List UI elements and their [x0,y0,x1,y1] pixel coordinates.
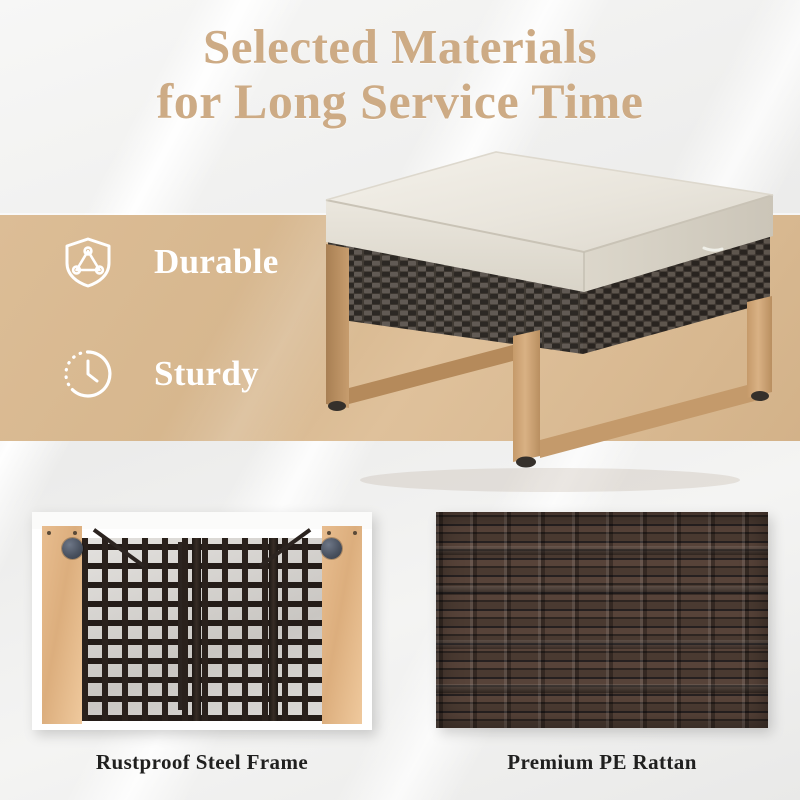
mesh-vertical-bar [192,538,201,721]
rattan-strand [436,586,768,595]
panel-left-top-strip [32,512,372,529]
infographic-canvas: Selected Materials for Long Service Time… [0,0,800,800]
feature-label-sturdy: Sturdy [154,354,259,394]
screw-icon [327,531,331,535]
screw-icon [73,531,77,535]
bolt-icon [321,538,342,559]
product-image-ottoman [300,140,790,510]
panel-premium-pe-rattan [436,512,768,728]
shield-icon [60,234,116,290]
steel-frame-mesh [82,538,322,721]
rattan-strand [436,684,768,693]
rattan-strand [436,546,768,555]
feature-label-durable: Durable [154,242,279,282]
page-title: Selected Materials for Long Service Time [0,22,800,127]
screw-icon [353,531,357,535]
caption-rustproof-steel-frame: Rustproof Steel Frame [32,750,372,775]
panel-rustproof-steel-frame [32,512,372,730]
pe-rattan-weave-texture [436,512,768,728]
rattan-strand [436,640,768,649]
bolt-icon [62,538,83,559]
caption-premium-pe-rattan: Premium PE Rattan [436,750,768,775]
title-line-2: for Long Service Time [0,76,800,127]
frame-post-right [322,526,362,724]
feature-durable: Durable [60,234,279,290]
screw-icon [47,531,51,535]
feature-sturdy: Sturdy [60,346,259,402]
clock-icon [60,346,116,402]
frame-post-left [42,526,82,724]
title-line-1: Selected Materials [0,22,800,72]
mesh-vertical-bar [269,538,278,721]
center-brace [178,542,182,710]
